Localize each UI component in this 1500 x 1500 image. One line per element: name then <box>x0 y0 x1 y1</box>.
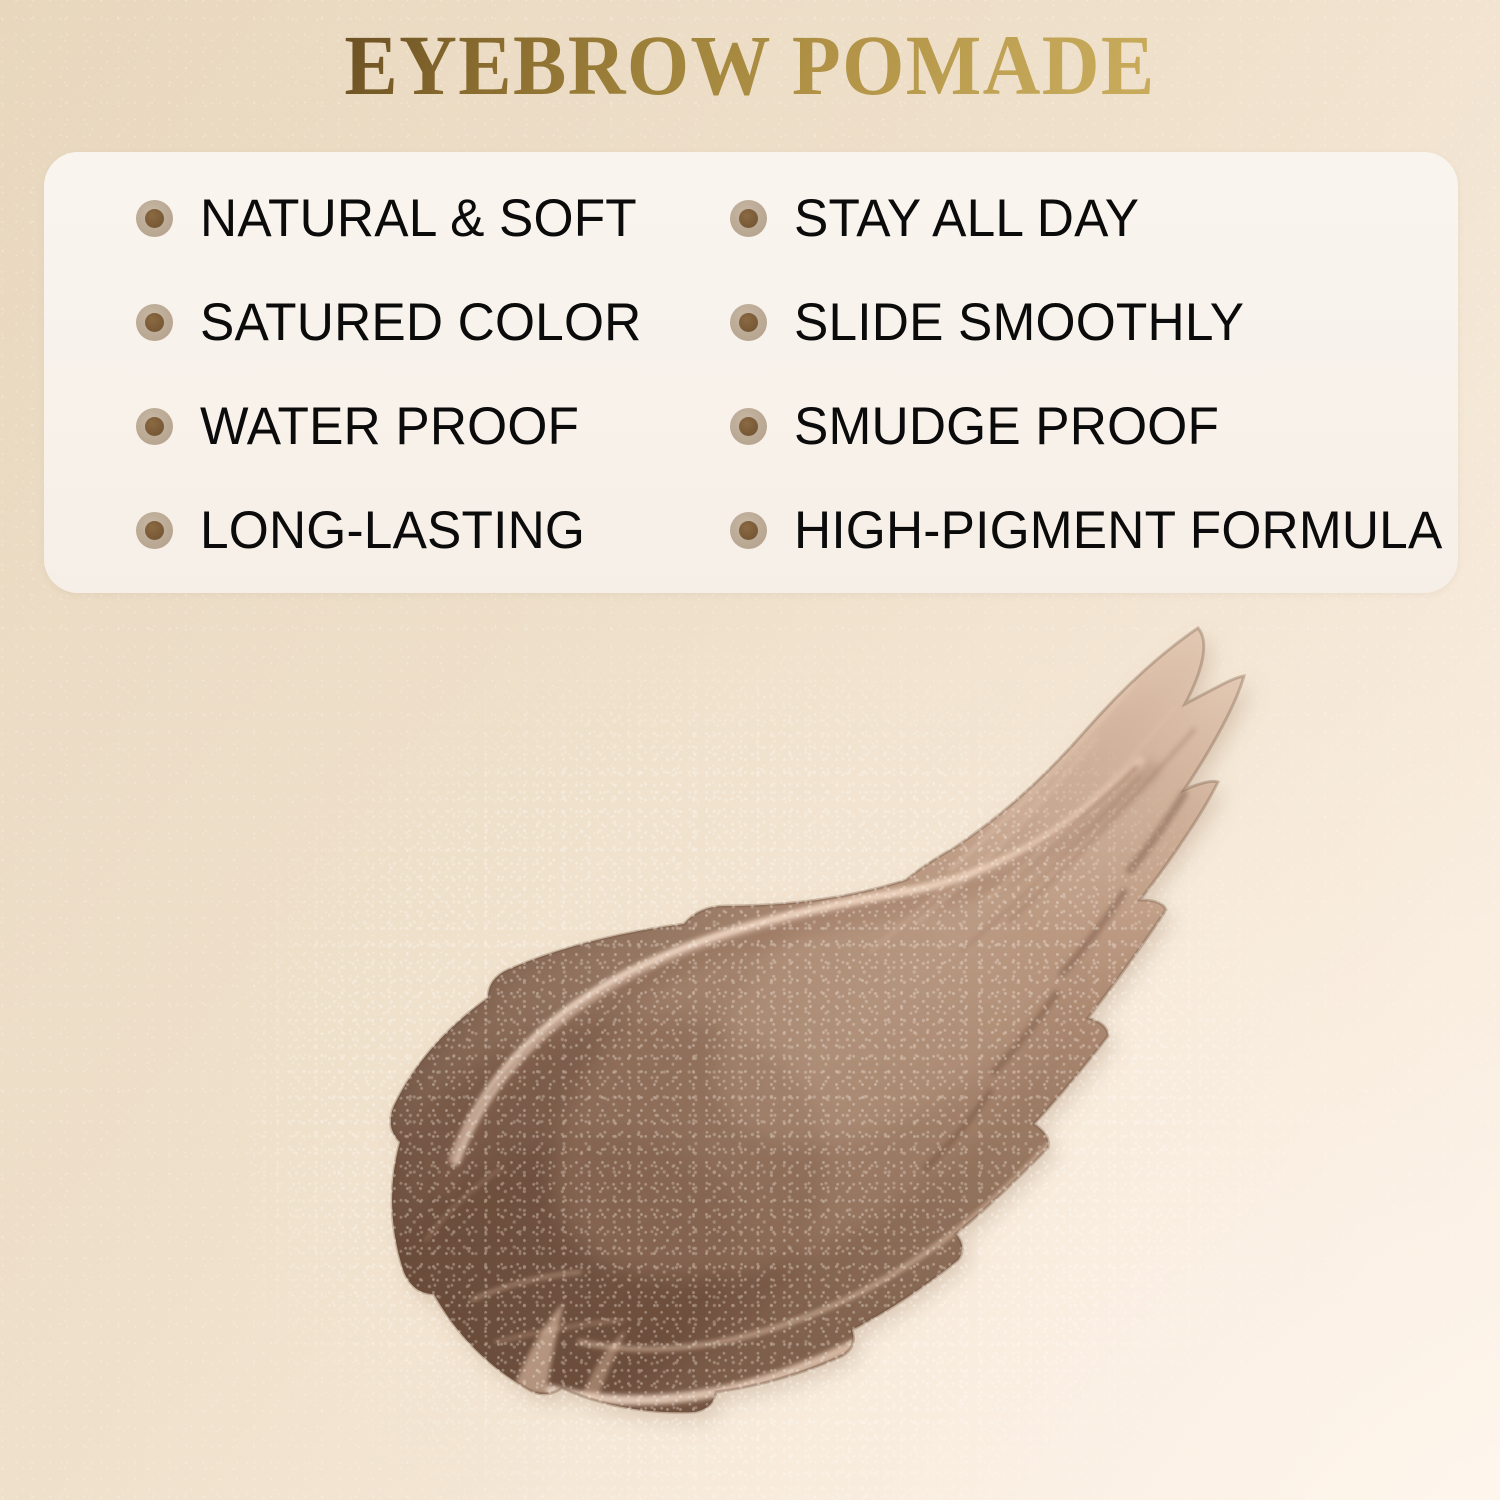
feature-label: LONG-LASTING <box>200 504 585 557</box>
feature-item: SMUDGE PROOF <box>728 375 1458 479</box>
bullet-dot-icon <box>136 200 173 237</box>
feature-list: NATURAL & SOFT STAY ALL DAY SATURED COLO… <box>44 152 1458 593</box>
feature-item: WATER PROOF <box>44 375 728 479</box>
feature-item: STAY ALL DAY <box>728 166 1458 270</box>
product-infographic: EYEBROW POMADE NATURAL & SOFT STAY ALL D… <box>0 0 1500 1500</box>
feature-label: WATER PROOF <box>200 400 579 453</box>
bullet-dot-icon <box>730 304 767 341</box>
pomade-smear-swatch <box>250 600 1330 1500</box>
feature-label: NATURAL & SOFT <box>200 192 637 245</box>
feature-label: SATURED COLOR <box>200 296 641 349</box>
feature-item: LONG-LASTING <box>44 479 728 583</box>
pomade-smear-graphic <box>250 600 1330 1500</box>
bullet-dot-icon <box>730 200 767 237</box>
feature-card: NATURAL & SOFT STAY ALL DAY SATURED COLO… <box>44 152 1458 593</box>
feature-item: HIGH-PIGMENT FORMULA <box>728 479 1458 583</box>
bullet-dot-icon <box>730 512 767 549</box>
bullet-dot-icon <box>730 408 767 445</box>
feature-label: SMUDGE PROOF <box>794 400 1219 453</box>
feature-label: HIGH-PIGMENT FORMULA <box>794 504 1442 557</box>
bullet-dot-icon <box>136 408 173 445</box>
feature-item: NATURAL & SOFT <box>44 166 728 270</box>
bullet-dot-icon <box>136 512 173 549</box>
bullet-dot-icon <box>136 304 173 341</box>
feature-label: SLIDE SMOOTHLY <box>794 296 1244 349</box>
feature-item: SATURED COLOR <box>44 270 728 374</box>
page-title: EYEBROW POMADE <box>53 22 1448 108</box>
feature-label: STAY ALL DAY <box>794 192 1139 245</box>
feature-item: SLIDE SMOOTHLY <box>728 270 1458 374</box>
